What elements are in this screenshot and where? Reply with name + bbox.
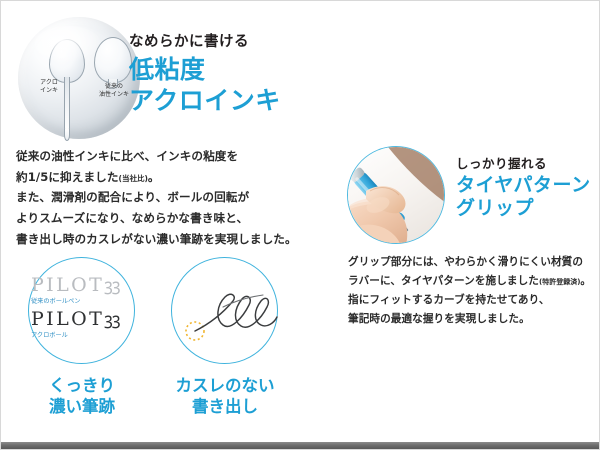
cursive-scribble-icon — [171, 257, 278, 364]
caption-a-line1: くっきり — [23, 375, 141, 396]
ink-headline-small: なめらかに書ける — [129, 34, 281, 51]
ink-body-line-1: 従来の油性インキに比べ、インキの粘度を — [16, 146, 326, 167]
grip-body-note-suffix: 。 — [580, 275, 591, 287]
grip-body-line-4: 筆記時の最適な握りを実現しました。 — [348, 310, 598, 329]
grip-body-line-1: グリップ部分には、やわらかく滑りにくい材質の — [348, 253, 598, 272]
ink-body-line-2: 約1/5に抑えました(当社比)。 — [16, 167, 326, 188]
caption-a-line2: 濃い筆跡 — [23, 396, 141, 417]
grip-headline-group: しっかり握れる タイヤパターン グリップ — [456, 156, 591, 220]
writing-caption-acroball: アクロボール — [31, 330, 135, 339]
ink-body-note: (当社比) — [119, 174, 148, 183]
ink-headline-big-line1: 低粘度 — [129, 55, 281, 86]
grip-body-line-3: 指にフィットするカーブを持たせてあり、 — [348, 291, 598, 310]
grip-body-text: グリップ部分には、やわらかく滑りにくい材質の ラバーに、タイヤパターンを施しまし… — [348, 253, 598, 329]
writing-sample-acroball: PILOTⳍⳍ アクロボール — [31, 310, 135, 344]
grip-headline-big-line1: タイヤパターン — [456, 174, 591, 197]
writing-sample-conventional: PILOTⳍⳍ 従来のボールペン — [31, 276, 135, 310]
hand-holding-pen-photo — [347, 146, 445, 244]
stroke-mark-faint: ⳍⳍ — [104, 276, 119, 296]
bottom-strip — [1, 442, 600, 449]
caption-b-line1: カスレのない — [163, 375, 287, 396]
ink-body-line-5: 書き出し時のカスレがない濃い筆跡を実現しました。 — [16, 229, 326, 250]
ink-body-line-3: また、潤滑剤の配合により、ボールの回転が — [16, 187, 326, 208]
pilot-word-faint: PILOT — [31, 274, 104, 296]
ink-comparison-sphere: アクロ インキ 従来の 油性インキ — [18, 17, 140, 139]
caption-b-line2: 書き出し — [163, 396, 287, 417]
ink-body-line-4: よりスムーズになり、なめらかな書き味と、 — [16, 208, 326, 229]
pilot-word-dark: PILOT — [31, 308, 104, 330]
drop-label-conventional-ink: 従来の 油性インキ — [94, 83, 134, 98]
grip-headline-small: しっかり握れる — [456, 156, 591, 171]
ink-body-note-suffix: 。 — [148, 170, 160, 184]
advertisement-page: アクロ インキ 従来の 油性インキ なめらかに書ける 低粘度 アクロインキ 従来… — [0, 0, 600, 450]
grip-body-line-2-text: ラバーに、タイヤパターンを施しました — [348, 275, 539, 287]
writing-sample-stack: PILOTⳍⳍ 従来のボールペン PILOTⳍⳍ アクロボール — [31, 276, 135, 344]
grip-headline-big-line2: グリップ — [456, 197, 591, 220]
grip-headline-big: タイヤパターン グリップ — [456, 174, 591, 220]
caption-no-skip-start: カスレのない 書き出し — [163, 375, 287, 418]
round-ink-drop-icon — [94, 37, 132, 89]
drop-label-acro-ink: アクロ インキ — [36, 79, 62, 94]
stroke-mark-dark: ⳍⳍ — [104, 310, 119, 330]
ink-headline-group: なめらかに書ける 低粘度 アクロインキ — [129, 34, 281, 116]
grip-body-line-2: ラバーに、タイヤパターンを施しました(特許登録済)。 — [348, 272, 598, 291]
ink-body-text: 従来の油性インキに比べ、インキの粘度を 約1/5に抑えました(当社比)。 また、… — [16, 146, 326, 249]
ink-headline-big-line2: アクロインキ — [129, 86, 281, 117]
caption-crisp-dark-line: くっきり 濃い筆跡 — [23, 375, 141, 418]
writing-caption-conventional: 従来のボールペン — [31, 296, 135, 305]
ink-headline-big: 低粘度 アクロインキ — [129, 55, 281, 116]
ink-body-line-2-text: 約1/5に抑えました — [16, 170, 119, 184]
grip-body-note: (特許登録済) — [539, 278, 580, 286]
